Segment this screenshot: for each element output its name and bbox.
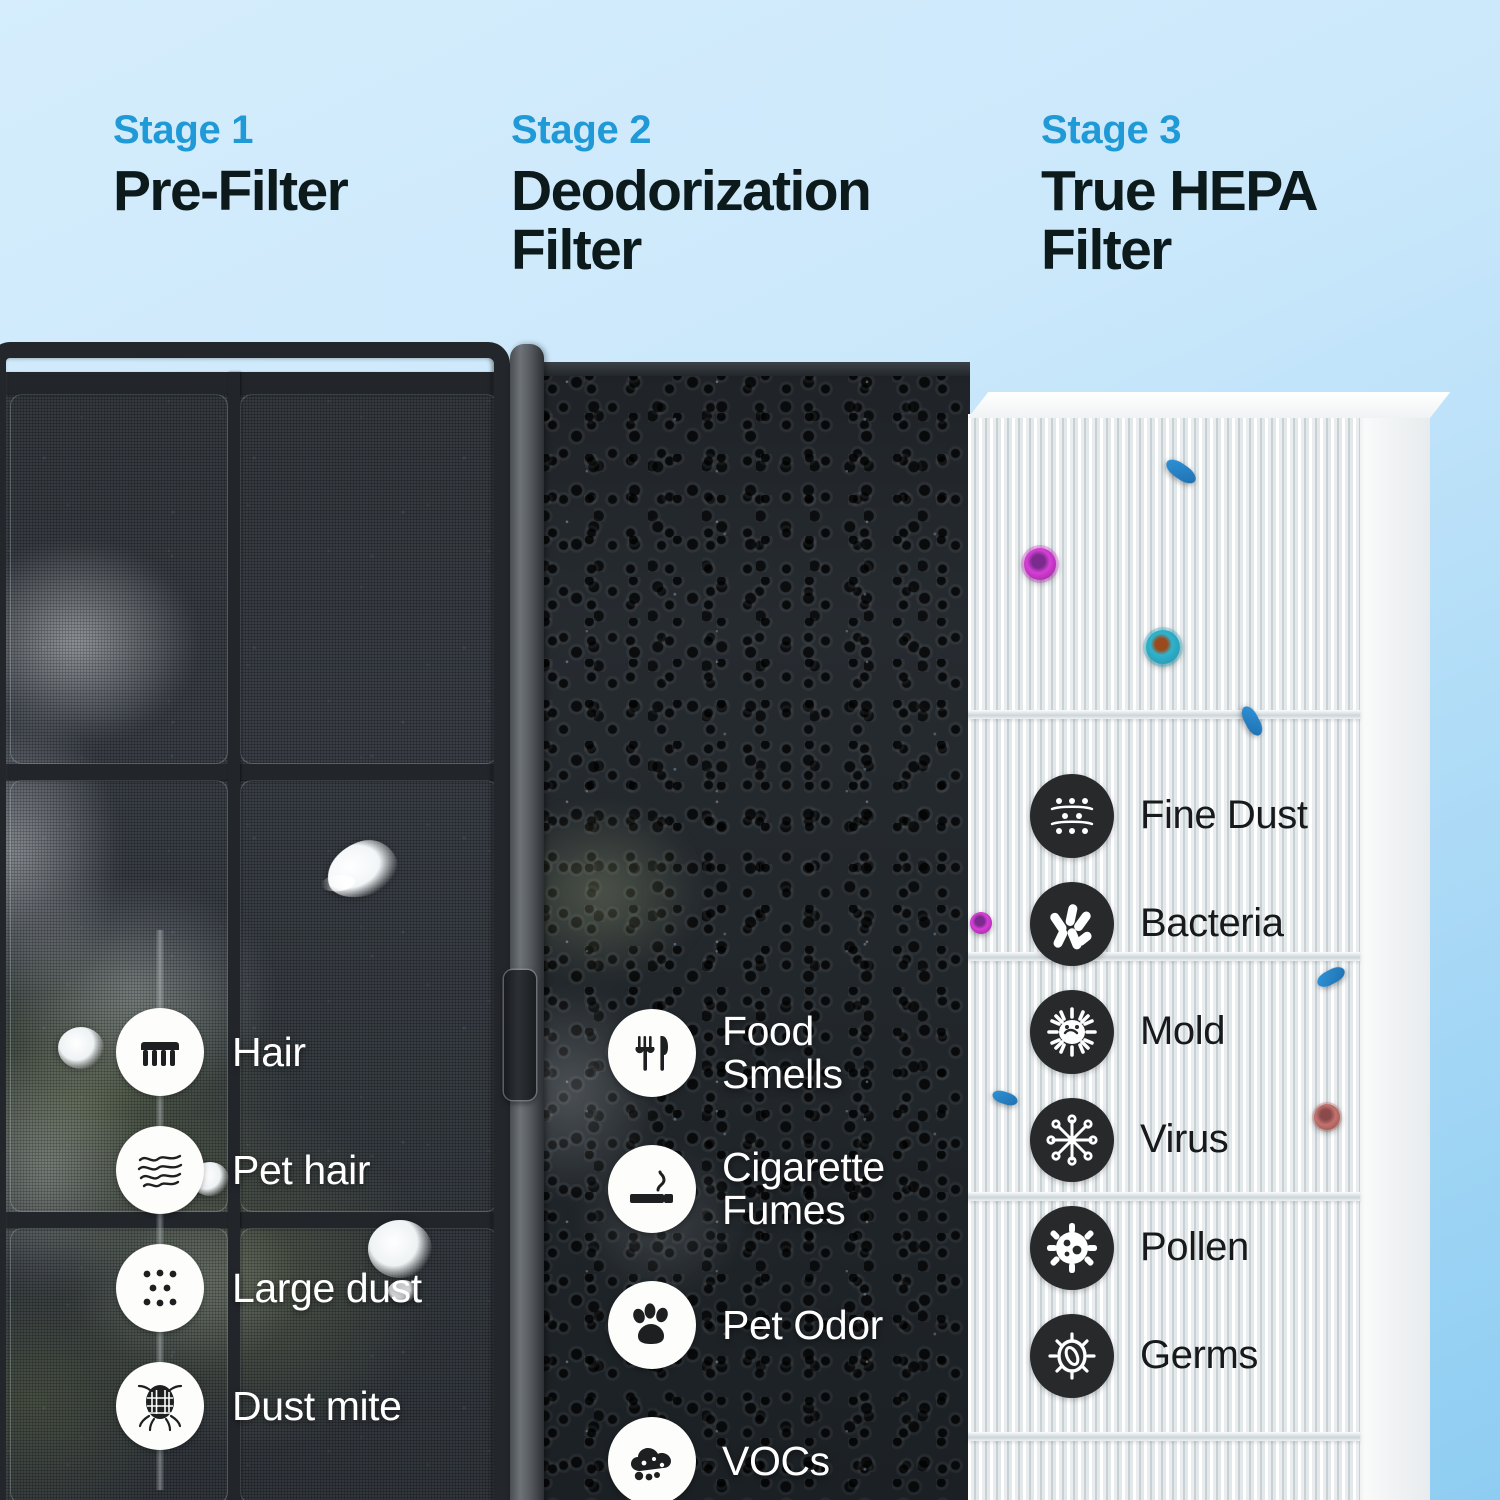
- dust-dots-icon: [116, 1244, 204, 1332]
- list-item[interactable]: Hair: [116, 993, 422, 1111]
- cigarette-icon: [608, 1145, 696, 1233]
- list-item[interactable]: Pet Odor: [608, 1257, 885, 1393]
- stage-1-eyebrow: Stage 1: [113, 110, 347, 150]
- dust-mite-icon: [116, 1362, 204, 1450]
- germ-icon: [1030, 1314, 1114, 1398]
- list-item[interactable]: Cigarette Fumes: [608, 1121, 885, 1257]
- stage-1-feature-list: Hair Pet hair: [116, 993, 422, 1465]
- list-item[interactable]: Germs: [1030, 1302, 1308, 1410]
- stage-3-title: True HEPA Filter: [1041, 162, 1317, 279]
- stage-headers: Stage 1 Pre-Filter Stage 2 Deodorization…: [0, 0, 1500, 340]
- teal-spiky-virus: [1146, 630, 1180, 664]
- list-item[interactable]: Virus: [1030, 1086, 1308, 1194]
- stage-3-header: Stage 3 True HEPA Filter: [1041, 110, 1317, 279]
- stage-2-eyebrow: Stage 2: [511, 110, 870, 150]
- list-item-label: Bacteria: [1140, 903, 1284, 945]
- stage-2-feature-list: Food Smells Cigarette Fumes: [608, 985, 885, 1500]
- list-item[interactable]: Fine Dust: [1030, 762, 1308, 870]
- list-item-label: Dust mite: [232, 1385, 402, 1428]
- hepa-top-face: [968, 392, 1450, 418]
- list-item[interactable]: Bacteria: [1030, 870, 1308, 978]
- stage-2-header: Stage 2 Deodorization Filter: [511, 110, 870, 279]
- product-infographic: Stage 1 Pre-Filter Stage 2 Deodorization…: [0, 0, 1500, 1500]
- stage-2-title: Deodorization Filter: [511, 162, 870, 279]
- list-item-label: Mold: [1140, 1011, 1225, 1053]
- pre-filter-handle[interactable]: [504, 970, 536, 1100]
- carbon-top-edge: [540, 362, 970, 376]
- pre-filter-side-edge: [510, 344, 544, 1500]
- stage-3-eyebrow: Stage 3: [1041, 110, 1317, 150]
- list-item-label: Germs: [1140, 1335, 1258, 1377]
- lint-clump: [58, 1027, 104, 1069]
- mold-spore-icon: [1030, 990, 1114, 1074]
- comb-icon: [116, 1008, 204, 1096]
- gas-cloud-icon: [608, 1417, 696, 1500]
- list-item-label: Large dust: [232, 1267, 422, 1310]
- virus-icon: [1030, 1098, 1114, 1182]
- list-item-label: Food Smells: [722, 1010, 843, 1095]
- list-item[interactable]: VOCs: [608, 1393, 885, 1500]
- bacteria-rods-icon: [1030, 882, 1114, 966]
- list-item-label: Fine Dust: [1140, 795, 1308, 837]
- paw-print-icon: [608, 1281, 696, 1369]
- list-item[interactable]: Dust mite: [116, 1347, 422, 1465]
- magenta-pollen: [1024, 548, 1056, 580]
- list-item-label: Pet hair: [232, 1149, 370, 1192]
- list-item-label: Virus: [1140, 1119, 1228, 1161]
- list-item-label: Pollen: [1140, 1227, 1249, 1269]
- wavy-hair-icon: [116, 1126, 204, 1214]
- magenta-pollen: [970, 912, 992, 934]
- list-item[interactable]: Pollen: [1030, 1194, 1308, 1302]
- list-item[interactable]: Large dust: [116, 1229, 422, 1347]
- fine-dust-icon: [1030, 774, 1114, 858]
- hepa-side-face: [1360, 392, 1430, 1500]
- hepa-seam: [968, 1432, 1360, 1441]
- list-item[interactable]: Mold: [1030, 978, 1308, 1086]
- list-item[interactable]: Food Smells: [608, 985, 885, 1121]
- stage-1-title: Pre-Filter: [113, 162, 347, 221]
- list-item[interactable]: Pet hair: [116, 1111, 422, 1229]
- red-spiky-spore: [1314, 1104, 1340, 1130]
- stage-1-header: Stage 1 Pre-Filter: [113, 110, 347, 221]
- fork-knife-icon: [608, 1009, 696, 1097]
- hepa-seam: [968, 710, 1360, 719]
- stage-3-feature-list: Fine Dust Bacteria: [1030, 762, 1308, 1410]
- pollen-icon: [1030, 1206, 1114, 1290]
- list-item-label: VOCs: [722, 1440, 830, 1483]
- list-item-label: Pet Odor: [722, 1304, 883, 1347]
- list-item-label: Hair: [232, 1031, 306, 1074]
- list-item-label: Cigarette Fumes: [722, 1146, 885, 1231]
